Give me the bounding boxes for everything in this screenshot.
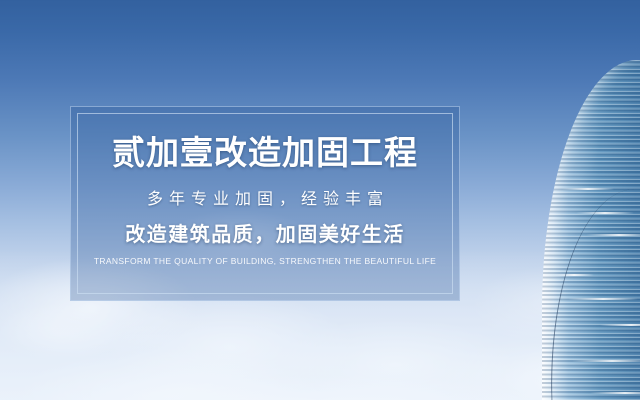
banner-tagline: 改造建筑品质，加固美好生活 xyxy=(125,225,405,245)
text-panel-inner-border: 贰加壹改造加固工程 多年专业加固，经验丰富 改造建筑品质，加固美好生活 TRAN… xyxy=(77,113,453,294)
window-light-streak xyxy=(562,188,614,190)
skyscraper-building xyxy=(530,60,640,400)
banner-headline: 贰加壹改造加固工程 xyxy=(112,136,418,169)
tower-body xyxy=(542,60,640,400)
banner-subline: 多年专业加固，经验丰富 xyxy=(141,192,389,208)
banner-english-tagline: TRANSFORM THE QUALITY OF BUILDING, STREN… xyxy=(94,257,436,266)
hero-banner: 贰加壹改造加固工程 多年专业加固，经验丰富 改造建筑品质，加固美好生活 TRAN… xyxy=(0,0,640,400)
text-panel: 贰加壹改造加固工程 多年专业加固，经验丰富 改造建筑品质，加固美好生活 TRAN… xyxy=(70,106,460,301)
